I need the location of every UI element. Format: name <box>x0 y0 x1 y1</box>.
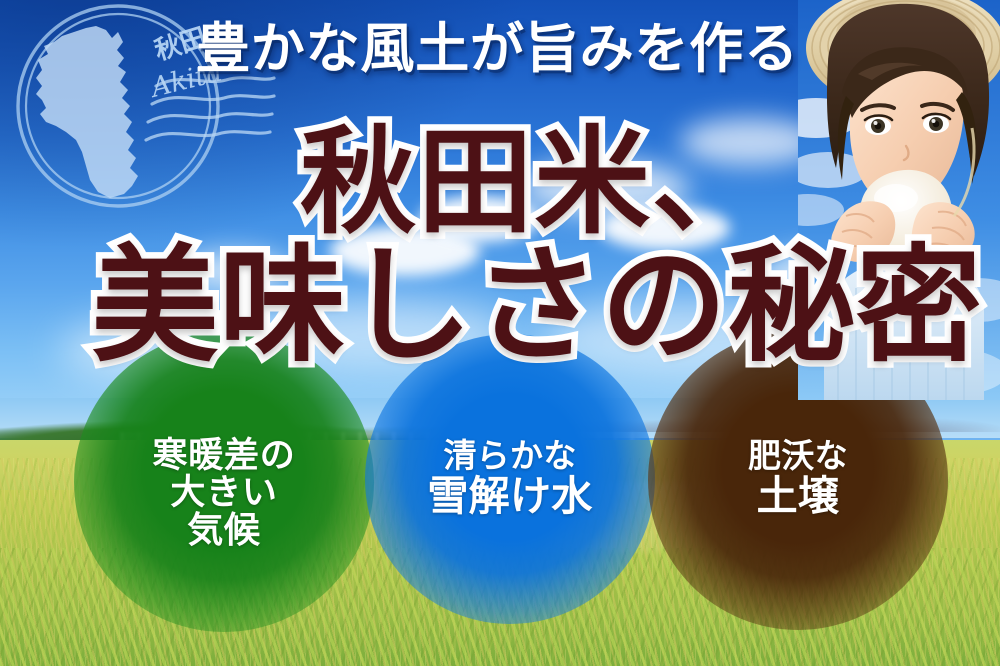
orb-soil-line-1: 肥沃な <box>648 440 948 475</box>
orb-climate-line-3: 気候 <box>74 511 374 549</box>
akita-map-silhouette <box>36 26 138 198</box>
tagline: 豊かな風土が旨みを作る <box>196 4 799 83</box>
orb-label-water: 清らかな 雪解け水 <box>365 440 655 518</box>
orb-label-climate: 寒暖差の 大きい 気候 <box>74 437 374 549</box>
orb-soil-line-2: 土壌 <box>648 475 948 518</box>
orb-water-line-2: 雪解け水 <box>365 475 655 518</box>
orb-climate-line-1: 寒暖差の <box>74 437 374 474</box>
orb-label-soil: 肥沃な 土壌 <box>648 440 948 518</box>
main-title-line-2: 美味しさの秘密 <box>92 204 983 386</box>
orb-water-line-1: 清らかな <box>365 440 655 475</box>
akita-rice-banner: 寒暖差の 大きい 気候 清らかな 雪解け水 肥沃な 土壌 <box>0 0 1000 666</box>
orb-climate-line-2: 大きい <box>74 474 374 511</box>
